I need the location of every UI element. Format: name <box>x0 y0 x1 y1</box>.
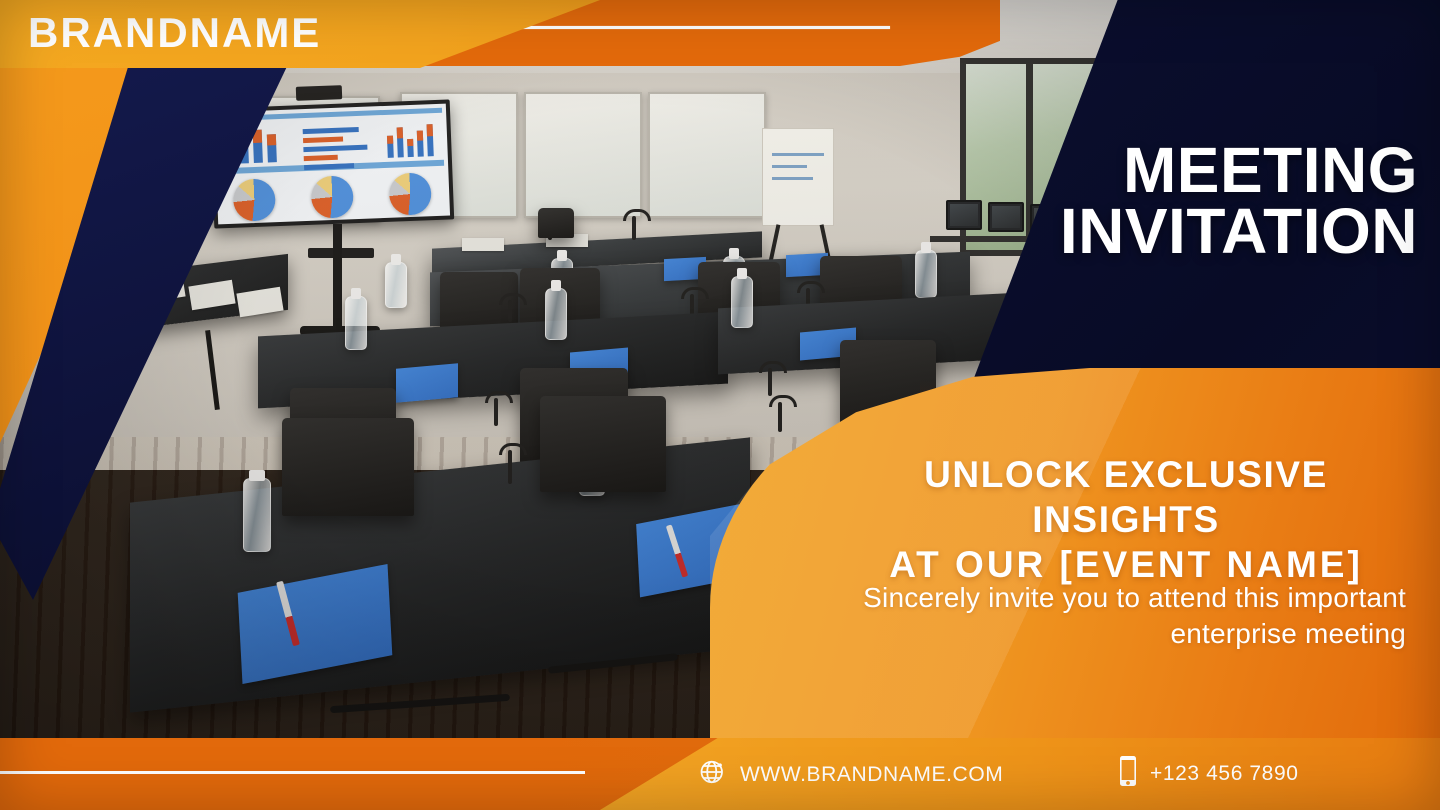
contact-phone[interactable]: +123 456 7890 <box>1118 755 1299 792</box>
subtext: Sincerely invite you to attend this impo… <box>806 580 1406 653</box>
meeting-invitation-poster: MEETING INVITATION UNLOCK EXCLUSIVE INSI… <box>0 0 1440 810</box>
footer-white-rule <box>0 771 585 774</box>
footer-dark-orange-bar <box>0 738 720 810</box>
mobile-phone-icon <box>1118 755 1138 792</box>
website-label: WWW.BRANDNAME.COM <box>740 763 1003 787</box>
page-title: MEETING INVITATION <box>958 140 1418 262</box>
subtext-line-1: Sincerely invite you to attend this impo… <box>806 580 1406 616</box>
headline-line-1: UNLOCK EXCLUSIVE INSIGHTS <box>838 452 1414 542</box>
contact-website[interactable]: WWW.BRANDNAME.COM <box>698 757 1003 792</box>
page-title-line-2: INVITATION <box>958 201 1418 262</box>
headline: UNLOCK EXCLUSIVE INSIGHTS AT OUR [EVENT … <box>838 452 1414 587</box>
page-title-line-1: MEETING <box>958 140 1418 201</box>
globe-icon <box>698 757 728 792</box>
subtext-line-2: enterprise meeting <box>806 616 1406 652</box>
brand-logo-text: BRANDNAME <box>28 12 321 54</box>
phone-label: +123 456 7890 <box>1150 762 1299 786</box>
